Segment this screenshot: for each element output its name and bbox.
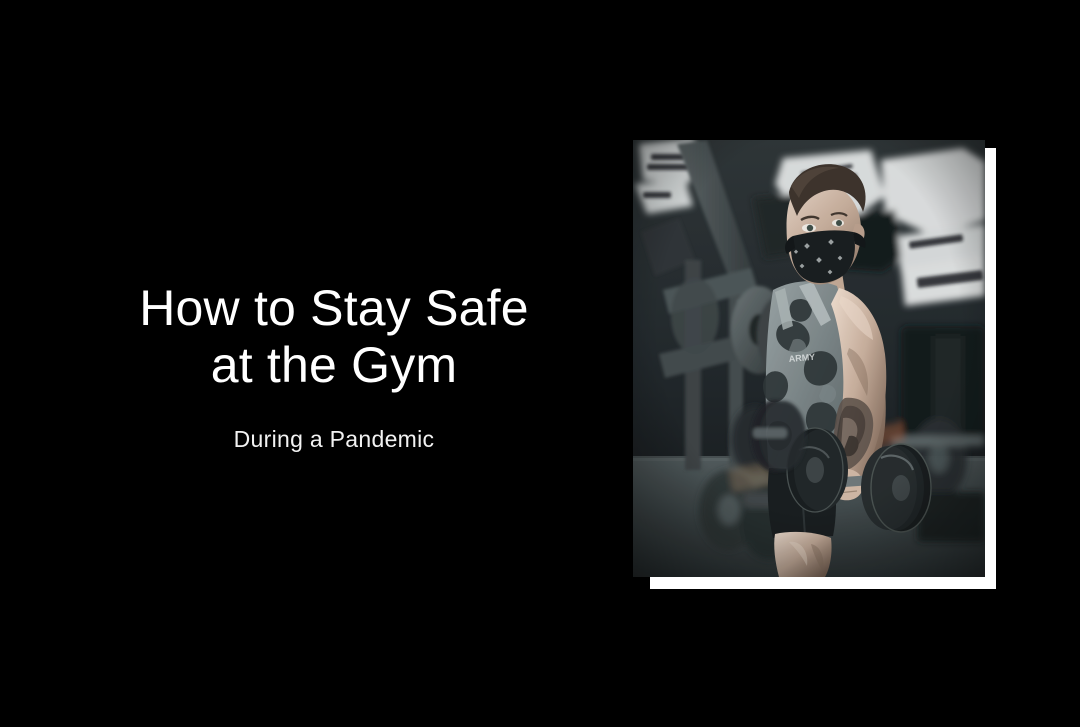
page-title: How to Stay Safe at the Gym — [48, 280, 620, 394]
hero-photo-figure: ARMY — [633, 140, 996, 589]
title-block: How to Stay Safe at the Gym During a Pan… — [48, 280, 620, 454]
hero-photo: ARMY — [633, 140, 985, 577]
slide-canvas: How to Stay Safe at the Gym During a Pan… — [0, 0, 1080, 727]
page-subtitle: During a Pandemic — [48, 424, 620, 454]
